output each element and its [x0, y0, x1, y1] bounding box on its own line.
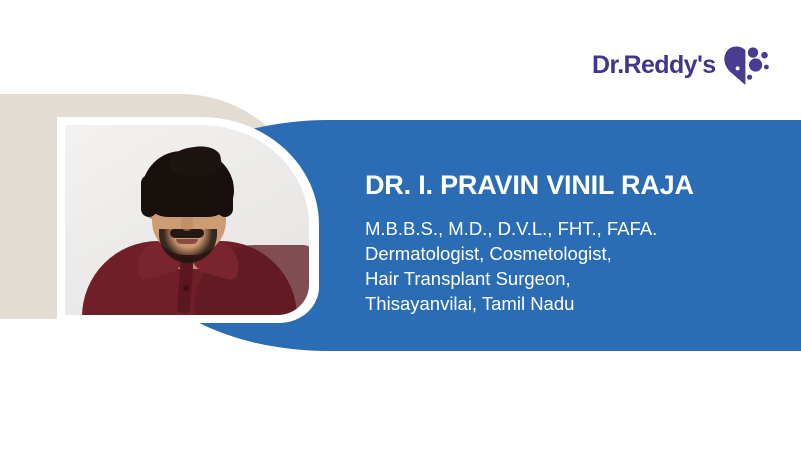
shirt-button	[183, 285, 189, 291]
brand-logo: Dr.Reddy's	[592, 44, 771, 86]
credential-line: Dermatologist, Cosmetologist,	[365, 241, 785, 266]
doctor-name: DR. I. PRAVIN VINIL RAJA	[365, 168, 785, 202]
brand-wordmark: Dr.Reddy's	[592, 53, 716, 78]
doctor-photo-card	[57, 117, 319, 323]
heart-dots-icon	[723, 44, 771, 86]
credential-line: Hair Transplant Surgeon,	[365, 266, 785, 291]
slide-canvas: DR. I. PRAVIN VINIL RAJA M.B.B.S., M.D.,…	[0, 0, 801, 450]
credential-line: Thisayanvilai, Tamil Nadu	[365, 291, 785, 316]
doctor-photo	[65, 125, 309, 315]
doctor-details: DR. I. PRAVIN VINIL RAJA M.B.B.S., M.D.,…	[365, 168, 785, 316]
credential-line: M.B.B.S., M.D., D.V.L., FHT., FAFA.	[365, 216, 785, 241]
nose-shape	[181, 215, 193, 231]
mouth-shape	[176, 239, 198, 244]
credentials-list: M.B.B.S., M.D., D.V.L., FHT., FAFA. Derm…	[365, 216, 785, 316]
portrait-illustration	[65, 125, 309, 315]
